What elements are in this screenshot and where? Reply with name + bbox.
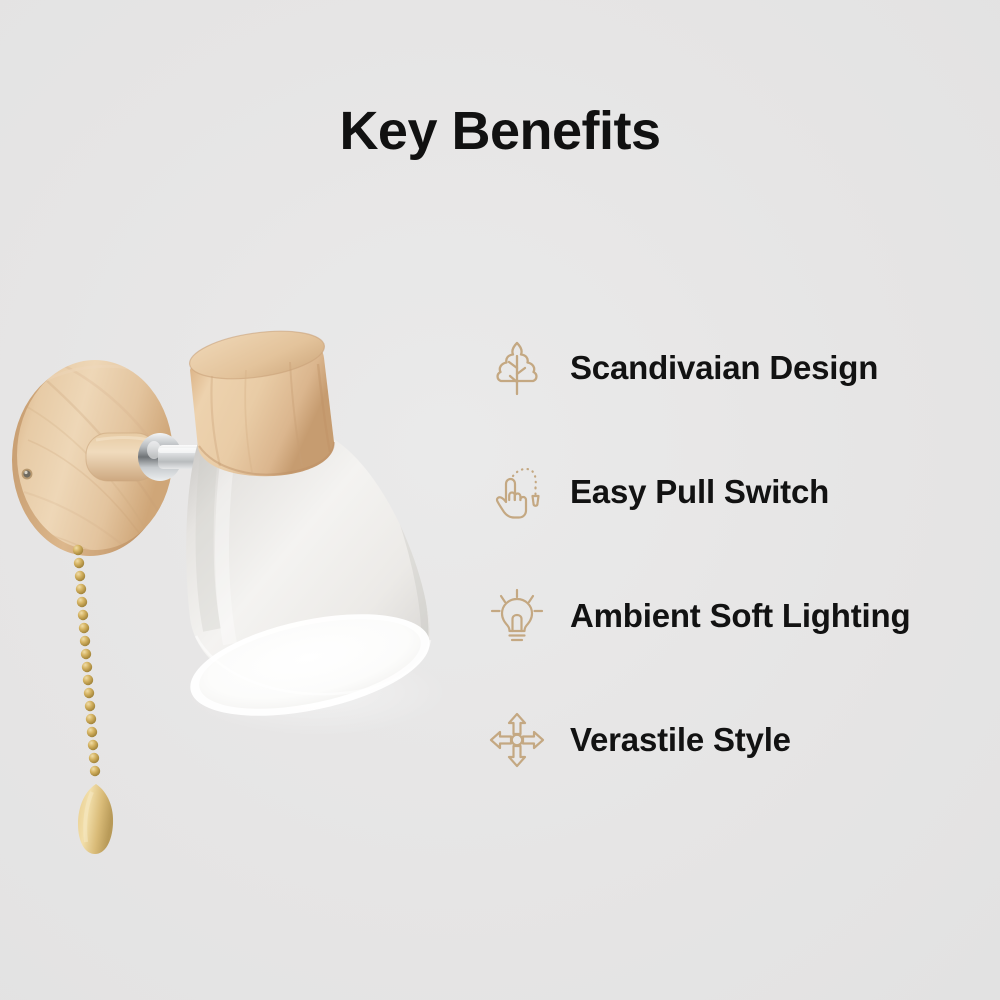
brass-beaded-pull-chain xyxy=(73,545,100,776)
benefit-label: Scandivaian Design xyxy=(570,349,878,387)
benefit-label: Easy Pull Switch xyxy=(570,473,829,511)
benefit-item-ambient-soft-lighting: Ambient Soft Lighting xyxy=(486,584,1000,648)
wood-lamp-head xyxy=(187,324,335,476)
lightbulb-icon xyxy=(486,585,548,647)
pull-switch-icon xyxy=(486,461,548,523)
four-arrows-icon xyxy=(486,709,548,771)
wood-chain-pendant xyxy=(78,784,113,854)
benefit-label: Verastile Style xyxy=(570,721,791,759)
key-benefits-infographic: Key Benefits xyxy=(0,0,1000,1000)
tree-icon xyxy=(486,337,548,399)
benefit-item-scandivaian-design: Scandivaian Design xyxy=(486,336,1000,400)
mounting-screw xyxy=(22,469,33,480)
benefit-item-verastile-style: Verastile Style xyxy=(486,708,1000,772)
wood-wall-plate xyxy=(12,356,173,600)
product-image-wall-sconce-lamp xyxy=(0,300,470,880)
benefit-item-easy-pull-switch: Easy Pull Switch xyxy=(486,460,1000,524)
benefits-list: Scandivaian Design Easy Pull Switch xyxy=(486,336,1000,772)
benefit-label: Ambient Soft Lighting xyxy=(570,597,910,635)
page-title: Key Benefits xyxy=(0,104,1000,158)
